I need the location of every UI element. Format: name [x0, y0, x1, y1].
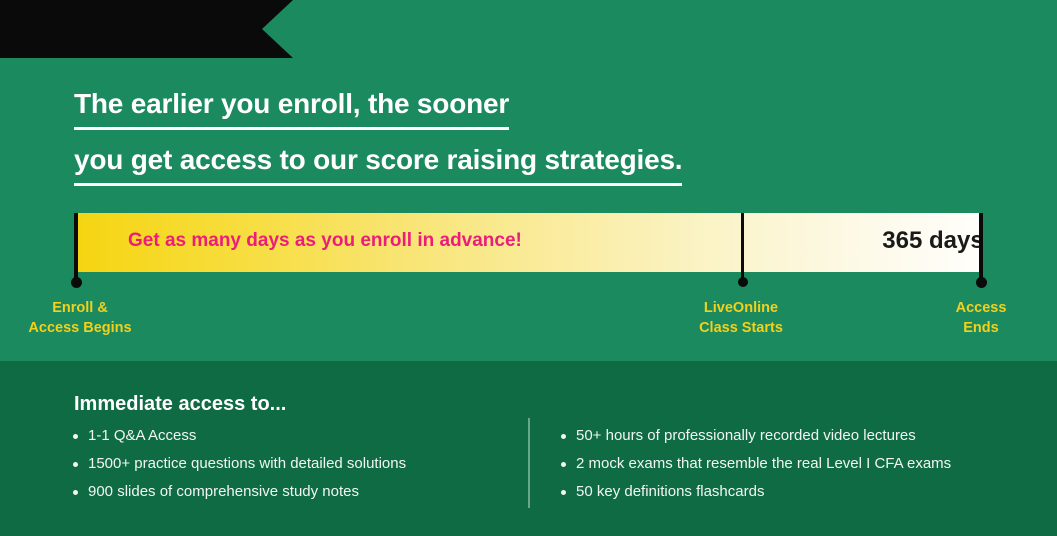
benefits-list-left: 1-1 Q&A Access 1500+ practice questions … [70, 427, 510, 501]
headline-line-2-row: you get access to our score raising stra… [74, 144, 682, 200]
list-item: 50+ hours of professionally recorded vid… [558, 427, 1028, 445]
advance-enrollment-message: Get as many days as you enroll in advanc… [128, 230, 522, 252]
list-item-label: 900 slides of comprehensive study notes [88, 483, 359, 500]
list-item: 900 slides of comprehensive study notes [70, 483, 510, 501]
milestone-line-1: LiveOnline [641, 298, 841, 318]
bullet-icon [561, 434, 566, 439]
tick-stem [74, 213, 78, 284]
milestone-label-enroll-access-begins: Enroll & Access Begins [0, 298, 160, 338]
benefits-column-left: 1-1 Q&A Access 1500+ practice questions … [70, 427, 510, 511]
milestone-line-2: Access Begins [0, 318, 160, 338]
list-item-label: 50 key definitions flashcards [576, 483, 764, 500]
tick-dot [71, 277, 82, 288]
bullet-icon [561, 490, 566, 495]
benefits-list-right: 50+ hours of professionally recorded vid… [558, 427, 1028, 501]
benefits-column-right: 50+ hours of professionally recorded vid… [558, 427, 1028, 511]
bullet-icon [561, 462, 566, 467]
milestone-line-2: Class Starts [641, 318, 841, 338]
headline-line-1-row: The earlier you enroll, the sooner [74, 88, 682, 144]
tick-stem [741, 213, 744, 284]
headline-line-1: The earlier you enroll, the sooner [74, 88, 509, 130]
benefits-column-divider [528, 418, 530, 508]
enrollment-promo-banner: Enroll Now Before course starts The earl… [0, 0, 1057, 536]
bullet-icon [73, 490, 78, 495]
immediate-access-title: Immediate access to... [74, 393, 286, 416]
list-item: 2 mock exams that resemble the real Leve… [558, 455, 1028, 473]
list-item: 1500+ practice questions with detailed s… [70, 455, 510, 473]
list-item: 50 key definitions flashcards [558, 483, 1028, 501]
access-duration-label: 365 days [809, 227, 1057, 255]
bullet-icon [73, 462, 78, 467]
list-item-label: 1-1 Q&A Access [88, 427, 196, 444]
headline-line-2: you get access to our score raising stra… [74, 144, 682, 186]
milestone-line-1: Access [902, 298, 1057, 318]
milestone-label-access-ends: Access Ends [902, 298, 1057, 338]
list-item-label: 1500+ practice questions with detailed s… [88, 455, 406, 472]
headline: The earlier you enroll, the sooner you g… [74, 88, 682, 200]
milestone-line-2: Ends [902, 318, 1057, 338]
tick-stem [979, 213, 983, 284]
enroll-now-ribbon [0, 0, 293, 58]
list-item-label: 2 mock exams that resemble the real Leve… [576, 455, 951, 472]
bullet-icon [73, 434, 78, 439]
tick-dot [738, 277, 748, 287]
list-item: 1-1 Q&A Access [70, 427, 510, 445]
list-item-label: 50+ hours of professionally recorded vid… [576, 427, 916, 444]
tick-dot [976, 277, 987, 288]
milestone-label-liveonline-class-starts: LiveOnline Class Starts [641, 298, 841, 338]
milestone-line-1: Enroll & [0, 298, 160, 318]
enrollment-timeline-bar: Get as many days as you enroll in advanc… [74, 213, 982, 272]
